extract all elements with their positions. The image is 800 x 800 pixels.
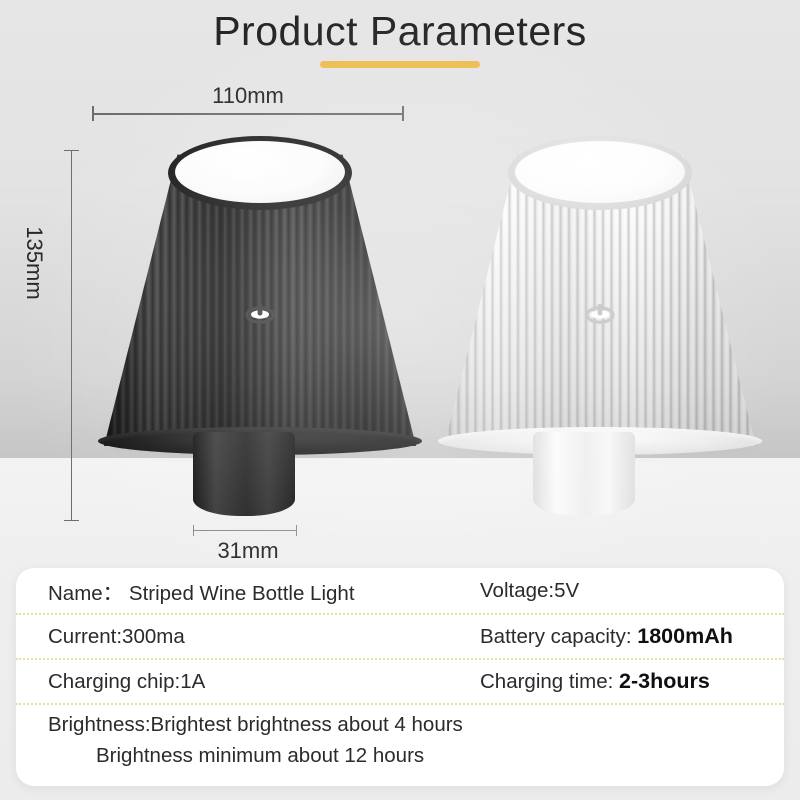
spec-charging-time-cell: Charging time: 2-3hours	[480, 669, 710, 694]
dimension-cap-base-left	[193, 525, 194, 536]
spec-current-label: Current:300ma	[48, 625, 185, 648]
spec-current-cell: Current:300ma	[48, 625, 480, 649]
table-row: Charging chip:1A Charging time: 2-3hours	[16, 658, 784, 703]
spec-brightness-line-2: Brightness minimum about 12 hours	[48, 744, 463, 768]
dimension-cap-height-top	[64, 150, 79, 151]
product-parameters-page: Product Parameters 110mm 135mm 31mm	[0, 0, 800, 800]
spec-voltage-label: Voltage:5V	[480, 579, 579, 602]
title-accent-underline	[320, 61, 480, 68]
spec-charging-time-value: 2-3hours	[619, 669, 710, 693]
spec-brightness-line-1: Brightness:Brightest brightness about 4 …	[48, 713, 463, 737]
page-title: Product Parameters	[0, 8, 800, 55]
table-row: Brightness:Brightest brightness about 4 …	[16, 703, 784, 786]
spec-charging-chip-label: Charging chip:1A	[48, 670, 205, 693]
spec-name-label: Name：	[48, 582, 123, 605]
spec-battery-value: 1800mAh	[637, 624, 733, 648]
spec-voltage-cell: Voltage:5V	[480, 579, 579, 603]
dimension-cap-width-left	[92, 106, 94, 121]
spec-charging-time-label: Charging time:	[480, 670, 613, 693]
black-stem-body	[193, 432, 295, 516]
dimension-cap-width-right	[402, 106, 404, 121]
black-lamp	[104, 136, 416, 446]
power-icon[interactable]	[580, 300, 620, 326]
spec-name-cell: Name： Striped Wine Bottle Light	[48, 576, 480, 606]
dimension-label-height: 135mm	[21, 213, 47, 313]
white-lamp	[444, 136, 756, 446]
dimension-line-width	[92, 113, 404, 115]
white-lamp-top-face	[515, 141, 685, 203]
spec-battery-label: Battery capacity:	[480, 625, 632, 648]
spec-battery-cell: Battery capacity: 1800mAh	[480, 624, 733, 649]
table-row: Current:300ma Battery capacity: 1800mAh	[16, 613, 784, 658]
dimension-label-base: 31mm	[128, 538, 368, 564]
spec-name-value: Striped Wine Bottle Light	[129, 582, 355, 605]
black-lamp-stem	[193, 432, 295, 516]
white-stem-body	[533, 432, 635, 516]
power-icon[interactable]	[240, 300, 280, 326]
spec-charging-chip-cell: Charging chip:1A	[48, 670, 480, 694]
black-lamp-top-face	[175, 141, 345, 203]
white-lamp-stem	[533, 432, 635, 516]
dimension-line-height	[71, 150, 72, 520]
dimension-cap-base-right	[296, 525, 297, 536]
spec-table-card: Name： Striped Wine Bottle Light Voltage:…	[16, 568, 784, 786]
dimension-cap-height-bottom	[64, 520, 79, 521]
dimension-line-base	[193, 530, 297, 531]
dimension-label-width: 110mm	[0, 83, 496, 109]
table-row: Name： Striped Wine Bottle Light Voltage:…	[16, 568, 784, 613]
spec-brightness-cell: Brightness:Brightest brightness about 4 …	[48, 713, 463, 768]
